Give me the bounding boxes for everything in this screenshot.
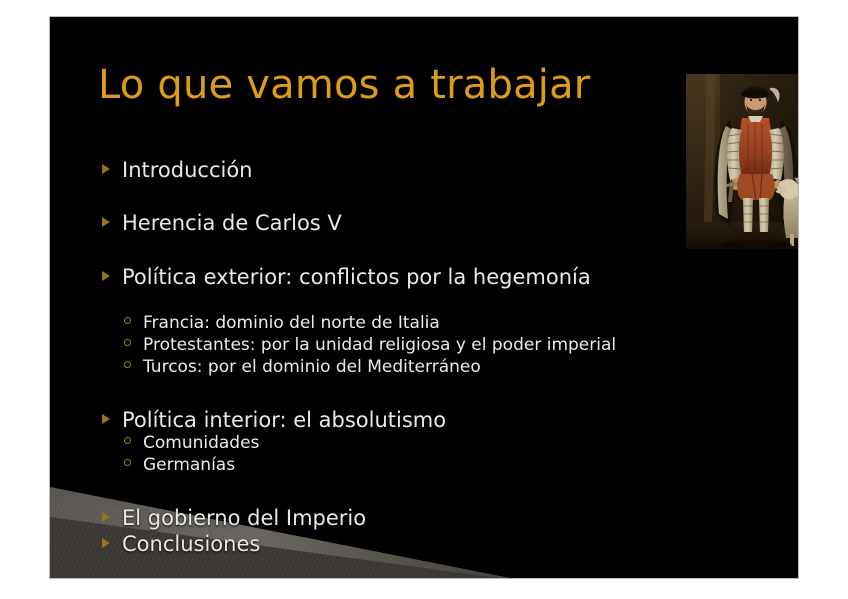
bullet-item[interactable]: Política exterior: conflictos por la heg… <box>102 265 591 289</box>
ring-bullet-icon <box>124 429 143 448</box>
bullet-item[interactable]: Política interior: el absolutismo <box>102 408 446 432</box>
presentation-page: Lo que vamos a trabajar <box>0 0 848 599</box>
bullet-item[interactable]: El gobierno del Imperio <box>102 506 366 530</box>
triangle-bullet-icon <box>102 164 122 177</box>
ring-bullet-icon <box>124 331 143 350</box>
bullet-item[interactable]: Turcos: por el dominio del Mediterráneo <box>124 357 481 377</box>
bullet-text: Turcos: por el dominio del Mediterráneo <box>143 357 481 377</box>
bullet-text: Protestantes: por la unidad religiosa y … <box>143 335 616 355</box>
bullet-item[interactable]: Protestantes: por la unidad religiosa y … <box>124 335 616 355</box>
ring-bullet-icon <box>124 309 143 328</box>
bullet-item[interactable]: Introducción <box>102 158 252 182</box>
bullet-item[interactable]: Francia: dominio del norte de Italia <box>124 313 440 333</box>
bullet-item[interactable]: Comunidades <box>124 433 259 453</box>
bullet-item[interactable]: Herencia de Carlos V <box>102 211 342 235</box>
bullet-item[interactable]: Conclusiones <box>102 532 260 556</box>
bullet-text: Conclusiones <box>122 532 260 556</box>
triangle-bullet-icon <box>102 271 122 284</box>
bullet-item[interactable]: Germanías <box>124 455 235 475</box>
ring-bullet-icon <box>124 353 143 372</box>
bullet-text: Política interior: el absolutismo <box>122 408 446 432</box>
bullet-text: Francia: dominio del norte de Italia <box>143 313 440 333</box>
bullet-text: Comunidades <box>143 433 259 453</box>
triangle-bullet-icon <box>102 538 122 551</box>
bullet-text: Introducción <box>122 158 252 182</box>
bullet-text: El gobierno del Imperio <box>122 506 366 530</box>
bullet-text: Política exterior: conflictos por la heg… <box>122 265 591 289</box>
triangle-bullet-icon <box>102 217 122 230</box>
triangle-bullet-icon <box>102 414 122 427</box>
bullet-text: Herencia de Carlos V <box>122 211 342 235</box>
slide-bullet-list: IntroducciónHerencia de Carlos VPolítica… <box>50 17 798 578</box>
slide-canvas[interactable]: Lo que vamos a trabajar <box>50 17 798 578</box>
bullet-text: Germanías <box>143 455 235 475</box>
triangle-bullet-icon <box>102 512 122 525</box>
ring-bullet-icon <box>124 451 143 470</box>
